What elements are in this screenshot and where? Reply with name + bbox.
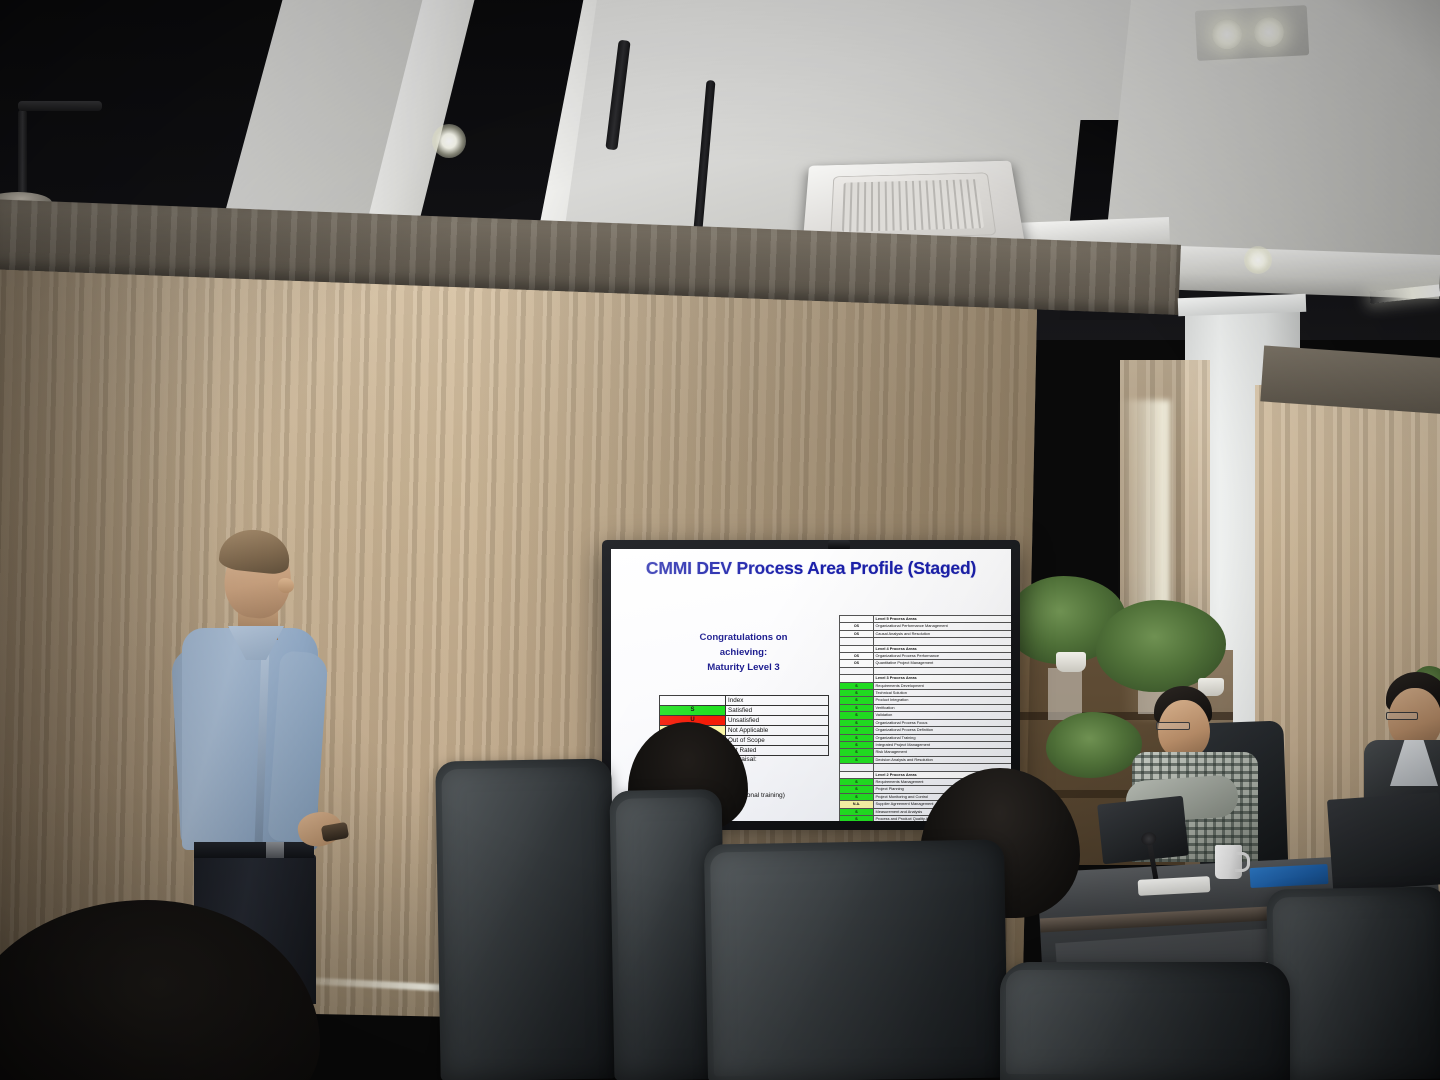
foreground-chair[interactable]: [704, 839, 1008, 1080]
legend-label: Not Applicable: [726, 726, 829, 736]
process-area-name: Verification: [874, 704, 1012, 711]
process-area-name: Integrated Project Management: [874, 741, 1012, 748]
ac-grille: [842, 179, 984, 232]
presenter-hair: [218, 526, 292, 575]
process-area-rating: [840, 645, 874, 652]
foreground-chair[interactable]: [435, 758, 617, 1080]
legend-label: Out of Scope: [726, 736, 829, 746]
congratulations-line-0: Congratulations on: [651, 631, 836, 646]
process-area-rating: S: [840, 690, 874, 697]
process-area-name: Product Integration: [874, 697, 1012, 704]
blue-folder: [1250, 864, 1329, 888]
shelf-opening: [1048, 668, 1082, 720]
process-area-rating: S: [840, 682, 874, 689]
legend-header-label: Index: [726, 696, 829, 706]
process-area-name: Level 3 Process Areas: [874, 675, 1012, 682]
double-spotlight-fixture: [1195, 5, 1309, 61]
foreground-chair[interactable]: [1266, 886, 1440, 1080]
congratulations-text: Congratulations onachieving:Maturity Lev…: [651, 631, 836, 676]
legend-header-blank: [660, 696, 726, 706]
process-area-rating: S: [840, 808, 874, 815]
process-area-row: OSQuantitative Project Management: [840, 660, 1012, 667]
process-area-name: [874, 638, 1012, 645]
process-area-row: STechnical Solution: [840, 690, 1012, 697]
process-area-name: Decision Analysis and Resolution: [874, 756, 1012, 763]
process-area-row: SOrganizational Process Definition: [840, 727, 1012, 734]
process-area-row: OSOrganizational Performance Management: [840, 623, 1012, 630]
plant-pot: [1056, 652, 1086, 672]
process-area-row: SRisk Management: [840, 749, 1012, 756]
legend-label: Unsatisfied: [726, 716, 829, 726]
process-area-rating: [840, 771, 874, 778]
process-area-rating: S: [840, 727, 874, 734]
process-area-rating: S: [840, 815, 874, 821]
process-area-name: Level 4 Process Areas: [874, 645, 1012, 652]
process-area-name: Quantitative Project Management: [874, 660, 1012, 667]
process-area-rating: S: [840, 778, 874, 785]
process-area-row: SValidation: [840, 712, 1012, 719]
display-webcam: [828, 540, 850, 549]
congratulations-line-2: Maturity Level 3: [651, 661, 836, 676]
laptop[interactable]: [1327, 792, 1440, 892]
process-area-rating: [840, 638, 874, 645]
process-area-rating: OS: [840, 630, 874, 637]
process-area-row: OSOrganizational Process Performance: [840, 653, 1012, 660]
process-level-header-row: Level 5 Process Areas: [840, 616, 1012, 623]
ac-inner-panel: [830, 172, 996, 239]
process-area-rating: S: [840, 704, 874, 711]
process-area-name: Level 5 Process Areas: [874, 616, 1012, 623]
process-level-header-row: Level 4 Process Areas: [840, 645, 1012, 652]
legend-row: SSatisfied: [660, 706, 829, 716]
process-spacer-row: [840, 667, 1012, 674]
process-area-rating: S: [840, 741, 874, 748]
presenter-belt: [194, 842, 314, 858]
process-level-header-row: Level 3 Process Areas: [840, 675, 1012, 682]
laptop[interactable]: [1097, 796, 1189, 865]
legend-header-row: Index: [660, 696, 829, 706]
legend-label: Not Rated: [726, 746, 829, 756]
process-area-name: Validation: [874, 712, 1012, 719]
process-area-name: Organizational Process Focus: [874, 719, 1012, 726]
spotlight-bulb-right: [1253, 16, 1285, 48]
congratulations-line-1: achieving:: [651, 646, 836, 661]
process-area-name: Organizational Process Performance: [874, 653, 1012, 660]
eyeglasses-icon: [1386, 712, 1418, 720]
process-area-rating: S: [840, 734, 874, 741]
presenter-face-profile: [278, 578, 294, 593]
eyeglasses-icon: [1156, 722, 1190, 730]
process-area-row: SProduct Integration: [840, 697, 1012, 704]
process-area-rating: OS: [840, 660, 874, 667]
process-area-name: Organizational Process Definition: [874, 727, 1012, 734]
process-area-rating: S: [840, 697, 874, 704]
process-area-row: SIntegrated Project Management: [840, 741, 1012, 748]
process-area-rating: [840, 667, 874, 674]
process-area-name: Organizational Training: [874, 734, 1012, 741]
coffee-mug: [1215, 845, 1242, 879]
process-area-rating: OS: [840, 653, 874, 660]
slide-title: CMMI DEV Process Area Profile (Staged): [611, 558, 1011, 579]
process-area-rating: S: [840, 719, 874, 726]
ceiling-downlight: [1244, 246, 1272, 274]
process-spacer-row: [840, 638, 1012, 645]
process-area-rating: S: [840, 749, 874, 756]
process-area-rating: [840, 675, 874, 682]
process-area-row: SOrganizational Process Focus: [840, 719, 1012, 726]
process-area-rating: OS: [840, 623, 874, 630]
process-area-row: SRequirements Development: [840, 682, 1012, 689]
process-area-rating: S: [840, 712, 874, 719]
process-area-rating: S: [840, 786, 874, 793]
process-area-name: Risk Management: [874, 749, 1012, 756]
legend-swatch-S: S: [660, 706, 726, 716]
legend-label: Satisfied: [726, 706, 829, 716]
process-area-row: SOrganizational Training: [840, 734, 1012, 741]
process-area-row: SDecision Analysis and Resolution: [840, 756, 1012, 763]
process-area-name: Causal Analysis and Resolution: [874, 630, 1012, 637]
process-area-rating: S: [840, 793, 874, 800]
foreground-chair[interactable]: [1000, 962, 1290, 1080]
process-area-rating: S: [840, 756, 874, 763]
process-area-row: SVerification: [840, 704, 1012, 711]
process-area-row: OSCausal Analysis and Resolution: [840, 630, 1012, 637]
process-area-name: Requirements Development: [874, 682, 1012, 689]
process-area-rating: N.A.: [840, 801, 874, 808]
conference-room-photo: CMMI DEV Process Area Profile (Staged) C…: [0, 0, 1440, 1080]
process-area-name: [874, 667, 1012, 674]
pendant-lamp-arm: [18, 110, 27, 200]
spotlight-bulb-left: [1211, 19, 1243, 51]
process-area-name: Technical Solution: [874, 690, 1012, 697]
ceiling-downlight: [432, 124, 466, 158]
presentation-clicker[interactable]: [321, 822, 349, 842]
process-area-rating: [840, 764, 874, 771]
process-area-name: Organizational Performance Management: [874, 623, 1012, 630]
presenter-belt-buckle: [266, 842, 284, 858]
process-area-rating: [840, 616, 874, 623]
